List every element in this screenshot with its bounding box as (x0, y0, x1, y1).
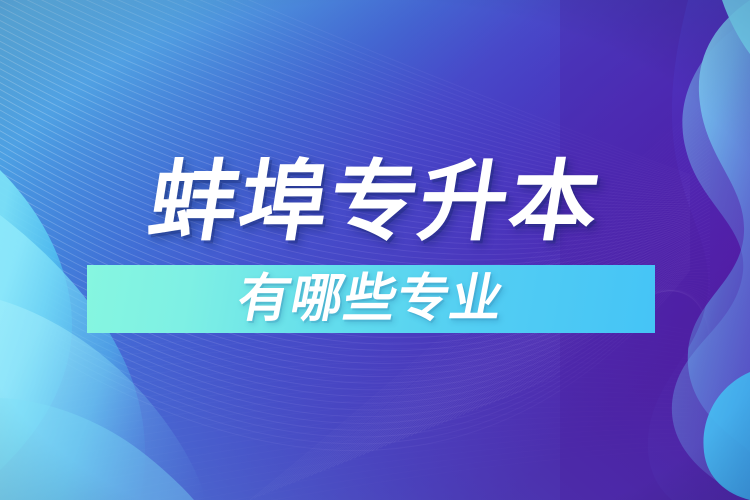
main-title: 蚌埠专升本 (0, 152, 750, 252)
subtitle-text: 有哪些专业 (80, 265, 661, 333)
banner-text-content: 蚌埠专升本 有哪些专业 (0, 0, 750, 500)
banner-graphic: 蚌埠专升本 有哪些专业 (0, 0, 750, 500)
